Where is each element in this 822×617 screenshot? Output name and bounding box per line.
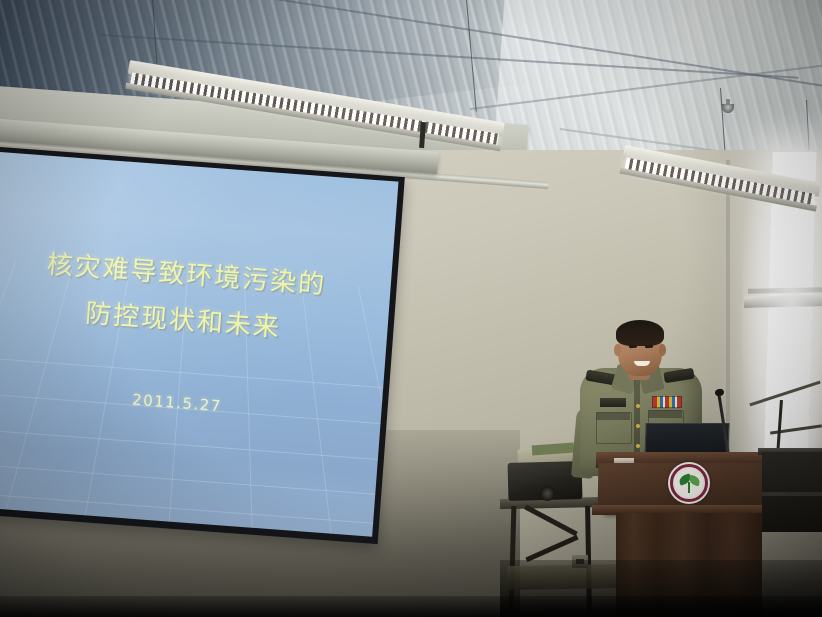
projected-slide: 核灾难导致环境污染的 防控现状和未来 2011.5.27	[0, 151, 398, 536]
screen-glare	[0, 151, 398, 536]
podium-emblem	[668, 462, 710, 504]
uniform-button	[636, 424, 640, 428]
lecture-room-photo: 核灾难导致环境污染的 防控现状和未来 2011.5.27	[0, 0, 822, 617]
presenter-ear	[659, 344, 666, 356]
presenter-eye	[645, 345, 653, 349]
presenter-mouth	[634, 361, 650, 366]
emblem-stem-icon	[688, 482, 690, 493]
presenter-medal-ribbons	[652, 396, 682, 408]
uniform-button	[636, 404, 640, 408]
presenter-pocket-flap	[596, 412, 630, 420]
projector-lens-icon	[540, 486, 555, 501]
uniform-button	[636, 444, 640, 448]
presenter-eye	[629, 345, 637, 349]
presenter-nameplate	[600, 398, 626, 407]
window-mullion	[744, 295, 822, 308]
equipment-cart-shelf	[762, 492, 822, 496]
projection-screen: 核灾难导致环境污染的 防控现状和未来 2011.5.27	[0, 146, 405, 544]
presenter-ear	[614, 344, 621, 356]
presenter-pocket-flap	[648, 410, 682, 418]
floor-shadow	[0, 596, 822, 617]
presenter-hair	[616, 320, 664, 346]
